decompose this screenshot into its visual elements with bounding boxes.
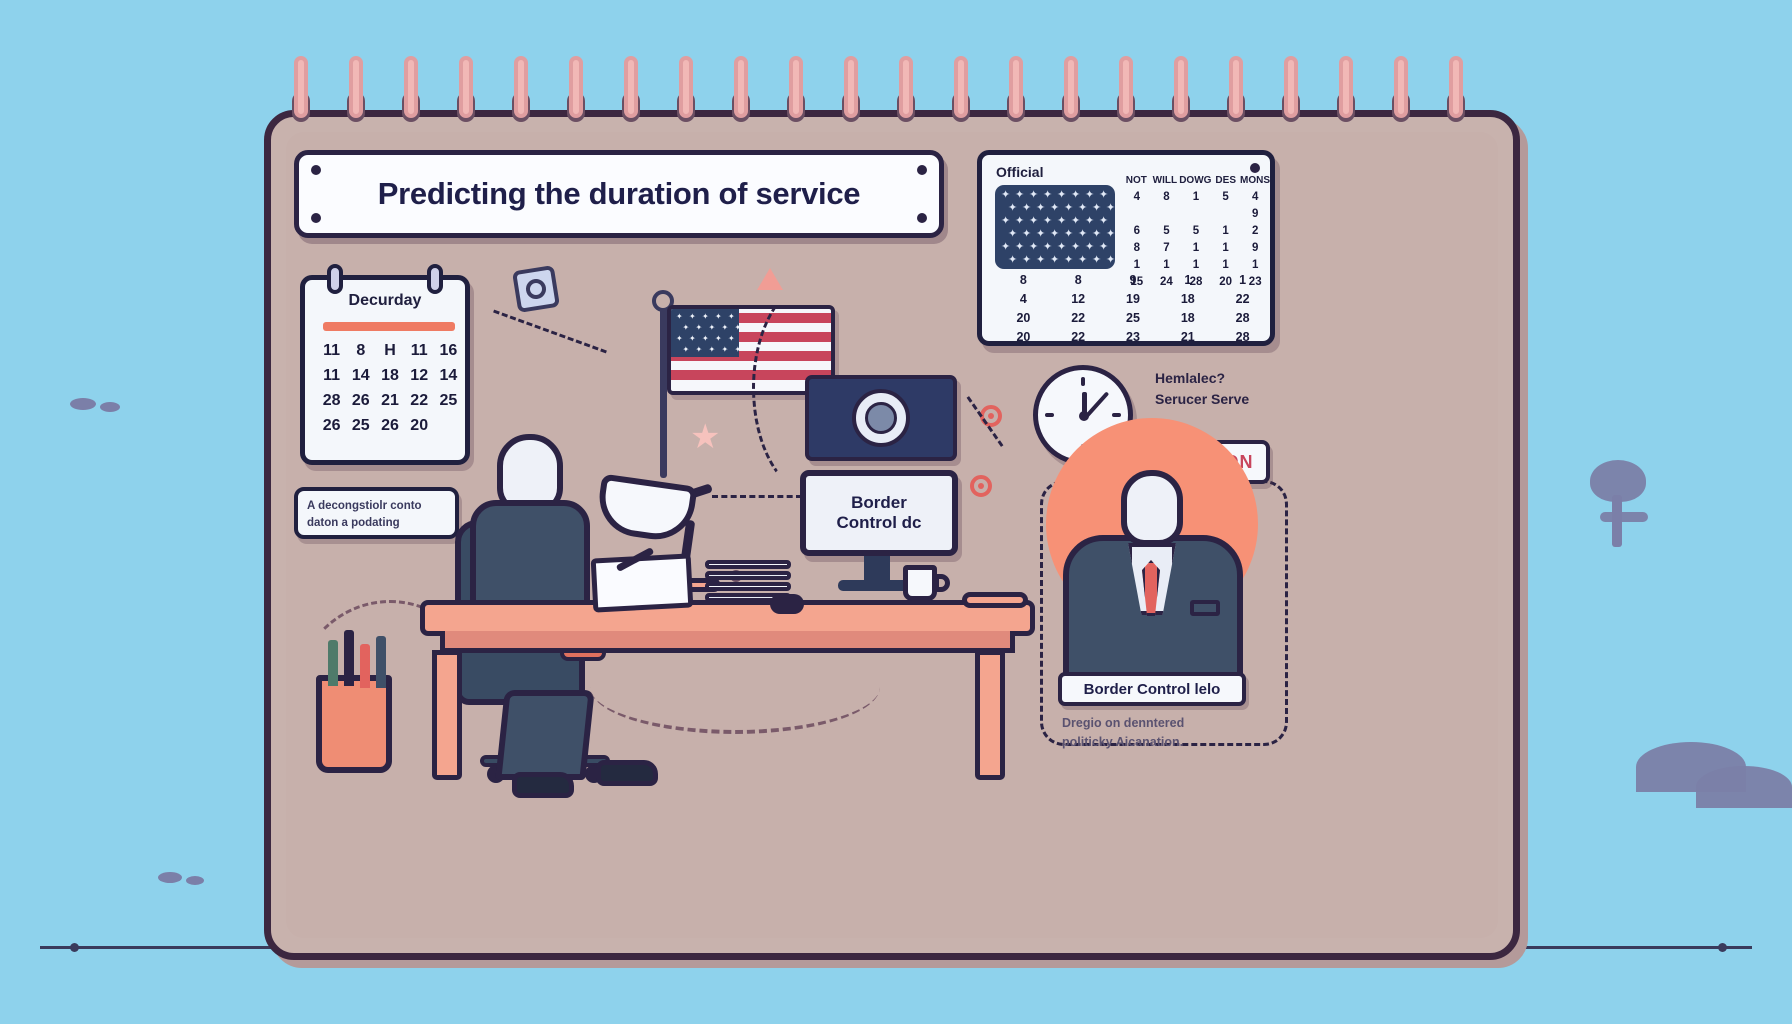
spiral-wire: [1009, 56, 1023, 118]
calendar-day-cell[interactable]: 22: [1051, 330, 1106, 344]
spiral-wire: [1229, 56, 1243, 118]
star-glyph: ✦: [722, 324, 729, 332]
cloud-mark-b: [100, 402, 120, 412]
monitor-screen[interactable]: Border Control dc: [800, 470, 958, 556]
star-glyph: ✦: [1008, 203, 1017, 214]
cloud-mark-d: [186, 876, 204, 885]
calendar-day-cell[interactable]: 25: [1106, 311, 1161, 325]
star-glyph: ✦: [1092, 255, 1101, 266]
calendar-day-cell[interactable]: 6: [1122, 225, 1152, 237]
horizon-dot-right: [1718, 943, 1727, 952]
calendar-day-cell[interactable]: 18: [1160, 311, 1215, 325]
calendar-day-cell[interactable]: 8: [1122, 242, 1152, 254]
spiral-wire: [514, 56, 528, 118]
spiral-wire: [899, 56, 913, 118]
calendar-day-cell[interactable]: 1: [1181, 242, 1211, 254]
calendar-day-cell[interactable]: [1122, 208, 1152, 220]
calendar-accent-bar: [323, 322, 455, 331]
star-glyph: ✦: [1001, 242, 1010, 253]
star-glyph: ✦: [1057, 190, 1066, 201]
calendar-day-cell[interactable]: 22: [405, 392, 434, 410]
star-glyph: ✦: [1008, 229, 1017, 240]
calendar-day-cell[interactable]: 25: [346, 417, 375, 435]
annotation-line-2: daton a podating: [307, 515, 446, 532]
calendar-day-cell[interactable]: 11: [317, 367, 346, 385]
star-glyph: ✦: [715, 335, 722, 343]
star-glyph: ✦: [1008, 255, 1017, 266]
spiral-wire: [404, 56, 418, 118]
calendar-day-cell[interactable]: 1: [1211, 225, 1241, 237]
calendar-day-cell[interactable]: 20: [996, 311, 1051, 325]
person-card-title: Border Control lelo: [1058, 672, 1246, 706]
calendar-column-header: WILL: [1151, 175, 1180, 186]
calendar-day-cell[interactable]: 20: [405, 417, 434, 435]
star-glyph: ✦: [1043, 190, 1052, 201]
calendar-column-header: NOT: [1122, 175, 1151, 186]
star-glyph: ✦: [1015, 190, 1024, 201]
calendar-day-cell[interactable]: [1181, 208, 1211, 220]
spiral-wire: [789, 56, 803, 118]
screw-top-right: [917, 165, 927, 175]
pencil-green: [328, 640, 338, 686]
calendar-day-cell[interactable]: [434, 417, 463, 435]
calendar-day-cell[interactable]: 8: [1152, 191, 1182, 203]
screw-bottom-left: [311, 213, 321, 223]
star-glyph: ✦: [1064, 229, 1073, 240]
calendar-day-cell[interactable]: 1: [1181, 191, 1211, 203]
star-glyph: ✦: [683, 346, 690, 354]
star-glyph: ✦: [1085, 190, 1094, 201]
spiral-wire: [349, 56, 363, 118]
calendar-day-cell[interactable]: 9: [1240, 242, 1270, 254]
star-glyph: ✦: [1043, 242, 1052, 253]
calendar-ring-right: [427, 264, 443, 294]
calendar-day-cell[interactable]: 5: [1181, 225, 1211, 237]
supervisor-pocket: [1190, 600, 1220, 616]
spiral-wire: [679, 56, 693, 118]
star-glyph: ✦: [1057, 242, 1066, 253]
calendar-day-cell[interactable]: 5: [1152, 225, 1182, 237]
monitor-line-1: Border: [837, 493, 922, 513]
computer-mouse: [770, 594, 804, 614]
star-glyph: ✦: [1015, 242, 1024, 253]
spiral-wire: [1449, 56, 1463, 118]
star-glyph: ✦: [1057, 216, 1066, 227]
calendar-day-cell[interactable]: 12: [1051, 292, 1106, 306]
seal-icon: [852, 389, 910, 447]
star-glyph: ✦: [1078, 255, 1087, 266]
star-glyph: ✦: [1106, 255, 1115, 266]
star-glyph: ✦: [1071, 190, 1080, 201]
calendar-day-cell[interactable]: 8: [996, 273, 1051, 287]
calendar-day-cell[interactable]: 9: [1106, 273, 1161, 287]
wall-calendar[interactable]: Decurday 118H111611141812142826212225262…: [300, 275, 470, 465]
calendar-day-cell[interactable]: 1: [1181, 259, 1211, 271]
person-card-subtitle: Dregio on denntered politicky Aicanation…: [1062, 714, 1252, 753]
horizon-dot-left: [70, 943, 79, 952]
calendar-column-header: DES: [1211, 175, 1240, 186]
calendar-day-cell[interactable]: 28: [317, 392, 346, 410]
stamp-inner-ring: [525, 278, 548, 301]
star-glyph: ✦: [1106, 203, 1115, 214]
star-glyph: ✦: [1092, 229, 1101, 240]
calendar-day-cell[interactable]: 21: [1160, 330, 1215, 344]
calendar-day-grid: 118H11161114181214282621222526252620: [317, 342, 463, 435]
illustration-canvas: Predicting the duration of service Decur…: [0, 0, 1792, 1024]
star-glyph: ✦: [735, 346, 742, 354]
calendar-day-cell[interactable]: 22: [1051, 311, 1106, 325]
star-glyph: ✦: [1092, 203, 1101, 214]
star-glyph: ✦: [1050, 203, 1059, 214]
calendar-day-cell[interactable]: 18: [375, 367, 404, 385]
star-glyph: ✦: [1050, 229, 1059, 240]
star-glyph: ✦: [1085, 242, 1094, 253]
star-glyph: ✦: [689, 313, 696, 321]
calendar-day-cell[interactable]: 18: [1160, 292, 1215, 306]
officer-legs: [495, 690, 594, 780]
calendar-day-cell[interactable]: 14: [346, 367, 375, 385]
calendar-day-cell[interactable]: [1152, 208, 1182, 220]
calendar-lower-grid: 8891141219182220222518282022232128: [996, 273, 1270, 344]
calendar-day-cell[interactable]: 4: [1240, 191, 1270, 203]
clock-center: [1079, 411, 1089, 421]
person-card-sub-line-2: politicky Aicanation.: [1062, 733, 1252, 752]
supervisor-head: [1121, 470, 1183, 546]
star-glyph: ✦: [728, 313, 735, 321]
desk-arc-decor: [590, 640, 880, 734]
spiral-wire: [624, 56, 638, 118]
pencil-cup: [316, 675, 392, 773]
spiral-wire: [1064, 56, 1078, 118]
pencil-dark: [344, 630, 354, 686]
star-glyph: ✦: [1036, 203, 1045, 214]
star-glyph: ✦: [1085, 216, 1094, 227]
desk-leg-left: [432, 650, 462, 780]
tree-branch: [1600, 512, 1648, 522]
star-glyph: ✦: [735, 324, 742, 332]
title-plaque: Predicting the duration of service: [294, 150, 944, 238]
officer-shoe-back: [512, 772, 574, 798]
star-glyph: ✦: [1106, 229, 1115, 240]
seal-inner: [865, 402, 897, 434]
coffee-cup: [903, 565, 937, 601]
right-annotation-line-1: Hemlalec?: [1155, 368, 1295, 389]
calendar-day-cell[interactable]: 26: [346, 392, 375, 410]
page-title: Predicting the duration of service: [378, 176, 860, 212]
warning-triangle-icon: [757, 268, 783, 290]
calendar-day-cell[interactable]: 19: [1106, 292, 1161, 306]
star-glyph: ✦: [1029, 216, 1038, 227]
star-glyph: ✦: [1036, 255, 1045, 266]
calendar-day-cell[interactable]: 28: [1215, 311, 1270, 325]
calendar-day-cell[interactable]: 9: [1240, 208, 1270, 220]
star-glyph: ✦: [1071, 242, 1080, 253]
spiral-wire: [1174, 56, 1188, 118]
spiral-wire: [844, 56, 858, 118]
spiral-wire: [294, 56, 308, 118]
calendar-column-headers: NOTWILLDOWGDESMONS: [1122, 175, 1270, 186]
flag-pole: [660, 300, 667, 478]
calendar-day-cell[interactable]: 8: [346, 342, 375, 360]
spiral-wire: [734, 56, 748, 118]
annotation-line-1: A decongstiolr conto: [307, 498, 446, 515]
flag-canton-stars: ✦✦✦✦✦✦✦✦✦✦✦✦✦✦✦✦✦✦✦✦✦✦✦✦✦✦✦✦✦✦✦✦✦✦✦✦✦✦✦✦…: [995, 185, 1115, 269]
star-glyph: ✦: [1099, 242, 1108, 253]
star-glyph: ✦: [696, 324, 703, 332]
monitor-neck: [864, 556, 890, 582]
calendar-day-cell[interactable]: 4: [996, 292, 1051, 306]
star-glyph: ✦: [1071, 216, 1080, 227]
calendar-day-cell[interactable]: 22: [1215, 292, 1270, 306]
connector-dashed-c: [712, 495, 802, 498]
calendar-day-cell[interactable]: 1: [1152, 259, 1182, 271]
star-glyph: ✦: [709, 324, 716, 332]
calendar-day-cell[interactable]: 1: [1122, 259, 1152, 271]
spiral-wire: [1284, 56, 1298, 118]
calendar-day-cell[interactable]: 26: [375, 417, 404, 435]
calendar-day-cell[interactable]: 11: [317, 342, 346, 360]
calendar-day-cell[interactable]: 23: [1106, 330, 1161, 344]
calendar-day-cell[interactable]: 20: [996, 330, 1051, 344]
calendar-day-cell[interactable]: 12: [405, 367, 434, 385]
calendar-day-cell[interactable]: 14: [434, 367, 463, 385]
star-glyph: ✦: [1001, 216, 1010, 227]
calendar-day-cell[interactable]: H: [375, 342, 404, 360]
official-calendar-title: Official: [996, 164, 1043, 180]
right-annotation-line-2: Serucer Serve: [1155, 389, 1295, 410]
person-card-title-text: Border Control lelo: [1084, 681, 1221, 698]
person-card-sub-line-1: Dregio on denntered: [1062, 714, 1252, 733]
star-glyph: ✦: [728, 335, 735, 343]
screw-top-left: [311, 165, 321, 175]
calendar-day-cell[interactable]: 7: [1152, 242, 1182, 254]
calendar-day-cell[interactable]: 25: [434, 392, 463, 410]
calendar-day-cell[interactable]: 11: [405, 342, 434, 360]
stamp-icon: [512, 265, 560, 313]
star-glyph: ✦: [1099, 190, 1108, 201]
spiral-wire: [569, 56, 583, 118]
star-glyph: ✦: [1099, 216, 1108, 227]
calendar-day-cell[interactable]: 1: [1240, 259, 1270, 271]
calendar-day-cell[interactable]: 21: [375, 392, 404, 410]
calendar-day-cell[interactable]: 8: [1051, 273, 1106, 287]
calendar-day-cell[interactable]: 16: [434, 342, 463, 360]
star-glyph: ✦: [689, 335, 696, 343]
spiral-wire: [954, 56, 968, 118]
calendar-ring-left: [327, 264, 343, 294]
official-calendar[interactable]: Official ✦✦✦✦✦✦✦✦✦✦✦✦✦✦✦✦✦✦✦✦✦✦✦✦✦✦✦✦✦✦✦…: [977, 150, 1275, 346]
calendar-day-cell[interactable]: 1: [1211, 242, 1241, 254]
calendar-day-cell[interactable]: 2: [1240, 225, 1270, 237]
screw-top-right: [1250, 163, 1260, 173]
calendar-day-cell[interactable]: 1: [1215, 273, 1270, 287]
screw-bottom-right: [917, 213, 927, 223]
star-glyph: ✦: [1029, 190, 1038, 201]
star-glyph: ✦: [683, 324, 690, 332]
bush-right-2: [1696, 766, 1792, 808]
star-glyph: ✦: [1078, 203, 1087, 214]
star-glyph: ✦: [1043, 216, 1052, 227]
calendar-column-header: DOWG: [1179, 175, 1211, 186]
document-sheet: [591, 553, 694, 612]
calendar-day-cell[interactable]: 28: [1215, 330, 1270, 344]
spiral-wire: [459, 56, 473, 118]
star-glyph: ✦: [709, 346, 716, 354]
desk-leg-right: [975, 650, 1005, 780]
pencil-blue: [376, 636, 386, 688]
star-glyph: ✦: [1001, 190, 1010, 201]
calendar-column-header: MONS: [1240, 175, 1270, 186]
star-glyph: ✦: [1064, 203, 1073, 214]
star-glyph: ✦: [702, 313, 709, 321]
star-glyph: ✦: [722, 346, 729, 354]
monitor-line-2: Control dc: [837, 513, 922, 533]
target-icon-lower: [970, 475, 992, 497]
calendar-day-cell[interactable]: 4: [1122, 191, 1152, 203]
star-glyph: ✦: [1022, 229, 1031, 240]
cloud-mark-a: [70, 398, 96, 410]
star-glyph: ✦: [1050, 255, 1059, 266]
star-glyph: ✦: [715, 313, 722, 321]
star-glyph: ✦: [676, 313, 683, 321]
star-glyph: ✦: [702, 335, 709, 343]
star-glyph: ✦: [1078, 229, 1087, 240]
spiral-wire: [1339, 56, 1353, 118]
calendar-month-label: Decurday: [305, 292, 465, 310]
keyboard: [962, 592, 1028, 608]
calendar-day-cell[interactable]: 26: [317, 417, 346, 435]
star-glyph: ✦: [1022, 255, 1031, 266]
officer-shoe-front: [596, 760, 658, 786]
star-glyph: ✦: [1015, 216, 1024, 227]
spiral-wire: [1394, 56, 1408, 118]
pencil-red: [360, 644, 370, 688]
star-glyph: ✦: [1036, 229, 1045, 240]
star-icon: ★: [690, 420, 720, 454]
right-annotation: Hemlalec? Serucer Serve: [1155, 368, 1295, 410]
presidential-seal-flag: [805, 375, 957, 461]
star-glyph: ✦: [676, 335, 683, 343]
spiral-wire: [1119, 56, 1133, 118]
calendar-day-cell[interactable]: [1211, 208, 1241, 220]
star-glyph: ✦: [1029, 242, 1038, 253]
calendar-day-cell[interactable]: 1: [1160, 273, 1215, 287]
star-glyph: ✦: [696, 346, 703, 354]
calendar-day-cell[interactable]: 5: [1211, 191, 1241, 203]
star-glyph: ✦: [1064, 255, 1073, 266]
annotation-card-left: A decongstiolr conto daton a podating: [294, 487, 459, 539]
cloud-mark-c: [158, 872, 182, 883]
star-glyph: ✦: [1022, 203, 1031, 214]
calendar-day-cell[interactable]: 1: [1211, 259, 1241, 271]
